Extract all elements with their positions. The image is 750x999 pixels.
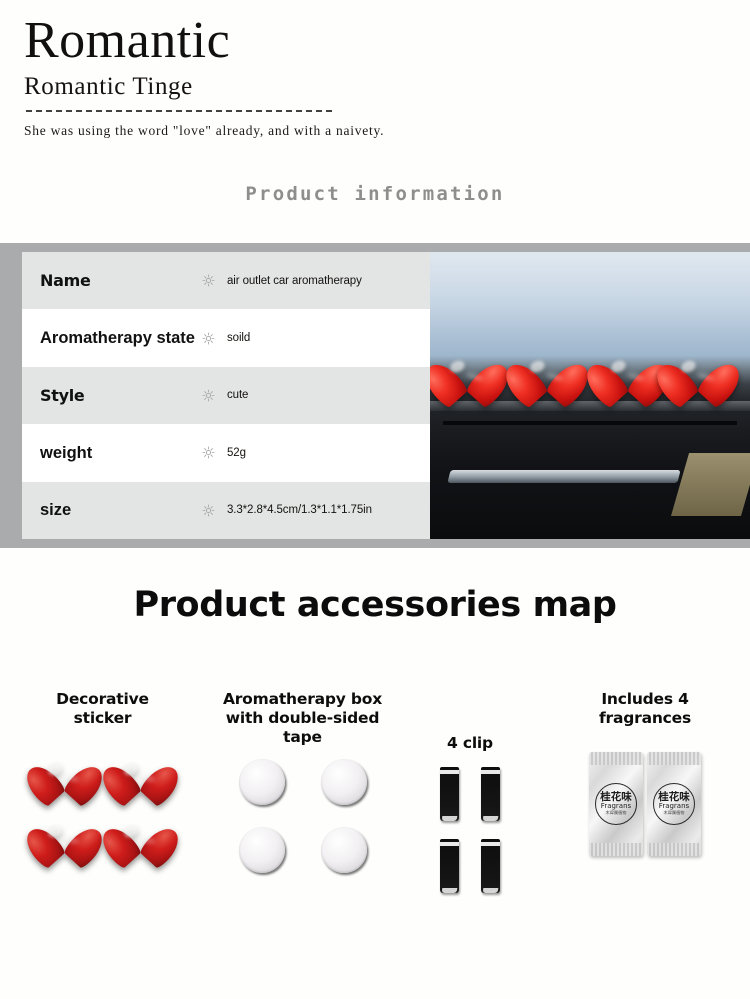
spec-label: size: [22, 500, 197, 521]
sun-icon: [197, 504, 219, 517]
accessory-item-sticker: Decorative sticker: [0, 690, 205, 907]
adhesive-disc: [239, 827, 285, 873]
header-divider: [26, 110, 332, 112]
heart-diffuser: [599, 355, 657, 407]
vent-slit: [443, 421, 737, 425]
table-row: size 3.3*2.8*4.5cm/1.3*1.1*1.75in: [22, 482, 430, 539]
header-tagline: She was using the word "love" already, a…: [24, 123, 750, 139]
product-information-heading: Product information: [0, 183, 750, 205]
fragrance-sachet: 桂花味 Fragrans 木犀属植物: [589, 752, 643, 856]
heart-sticker: [38, 758, 92, 806]
sachet-badge: 桂花味 Fragrans 木犀属植物: [653, 783, 695, 825]
table-row: Name air outlet car aromatherapy: [22, 252, 430, 309]
accessory-item-box-tape: Aromatherapy box with double-sided tape: [205, 690, 400, 907]
spec-label: Style: [22, 386, 197, 406]
accessory-item-clip: 4 clip: [400, 690, 540, 907]
accessory-art-clips: [440, 767, 500, 907]
adhesive-disc: [239, 759, 285, 805]
sun-icon: [197, 446, 219, 459]
adhesive-disc: [321, 759, 367, 805]
heart-sticker: [114, 820, 168, 868]
accessory-label: Includes 4 fragrances: [570, 690, 720, 728]
vent-clip: [440, 767, 459, 821]
spec-value: 52g: [219, 446, 246, 460]
spec-table: Name air outlet car aromatherapy: [22, 252, 430, 539]
sachet-crimp: [589, 843, 643, 856]
spec-value: air outlet car aromatherapy: [219, 274, 362, 288]
page-subtitle: Romantic Tinge: [24, 73, 750, 101]
accessory-label: Aromatherapy box with double-sided tape: [220, 690, 385, 747]
accessory-art-discs: [239, 759, 367, 899]
adhesive-disc: [321, 827, 367, 873]
sachet-crimp: [647, 843, 701, 856]
product-information-block: Name air outlet car aromatherapy: [0, 243, 750, 548]
accessory-art-sachets: 桂花味 Fragrans 木犀属植物 桂花味 Fragrans 木犀属植物: [589, 752, 701, 892]
accessory-label: Decorative sticker: [33, 690, 173, 728]
spec-label: Name: [22, 271, 197, 291]
spec-value: 3.3*2.8*4.5cm/1.3*1.1*1.75in: [219, 503, 372, 517]
page-title: Romantic: [24, 14, 750, 67]
vent-clip: [440, 839, 459, 893]
spec-value: soild: [219, 331, 250, 345]
vent-clip: [481, 767, 500, 821]
accessory-label: 4 clip: [447, 734, 493, 753]
sachet-crimp: [589, 752, 643, 765]
sachet-cn-text: 桂花味: [658, 792, 690, 803]
accessories-grid: Decorative sticker Aromatherapy box with…: [0, 690, 750, 907]
accessory-art-hearts: [38, 758, 168, 898]
spec-label: weight: [22, 443, 197, 464]
accessory-item-fragrances: Includes 4 fragrances 桂花味 Fragrans 木犀属植物: [540, 690, 750, 907]
car-vent-hearts-photo: [430, 252, 750, 539]
spec-table-wrapper: Name air outlet car aromatherapy: [0, 243, 430, 548]
spec-value: cute: [219, 388, 248, 402]
spec-label: Aromatherapy state: [22, 328, 197, 349]
table-row: weight 52g: [22, 424, 430, 481]
table-row: Style cute: [22, 367, 430, 424]
table-row: Aromatherapy state soild: [22, 309, 430, 366]
vent-clip: [481, 839, 500, 893]
sachet-badge: 桂花味 Fragrans 木犀属植物: [595, 783, 637, 825]
chrome-trim: [448, 470, 682, 483]
heart-sticker: [38, 820, 92, 868]
sun-icon: [197, 332, 219, 345]
sachet-crimp: [647, 752, 701, 765]
accessories-heading: Product accessories map: [0, 585, 750, 625]
heart-diffuser: [438, 355, 496, 407]
sachet-sub-text: 木犀属植物: [606, 811, 627, 816]
heart-sticker: [114, 758, 168, 806]
sun-icon: [197, 274, 219, 287]
sun-icon: [197, 389, 219, 402]
header-block: Romantic Romantic Tinge She was using th…: [0, 0, 750, 139]
fragrance-sachet: 桂花味 Fragrans 木犀属植物: [647, 752, 701, 856]
sachet-sub-text: 木犀属植物: [664, 811, 685, 816]
heart-diffuser: [518, 355, 576, 407]
sachet-cn-text: 桂花味: [600, 792, 632, 803]
heart-diffuser: [669, 355, 727, 407]
dashboard-trim: [671, 453, 750, 516]
